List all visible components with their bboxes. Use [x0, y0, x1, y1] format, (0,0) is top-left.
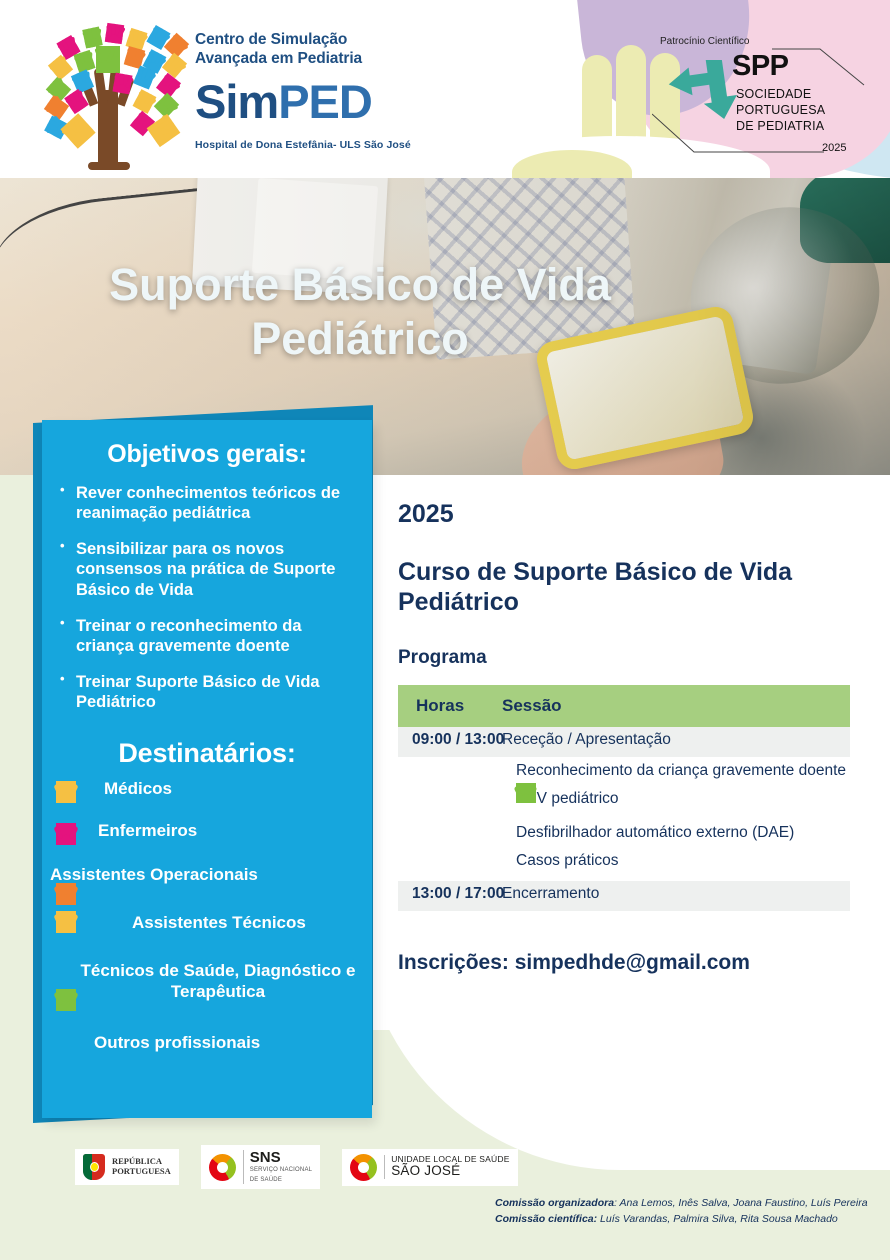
row-session: Reconhecimento da criança gravemente doe…: [516, 762, 846, 779]
spp-abbreviation: SPP: [732, 52, 789, 81]
hand-icon-green: [56, 989, 76, 1011]
audience-row: Médicos: [42, 777, 372, 817]
row-session: Desfibrilhador automático externo (DAE): [516, 824, 794, 841]
hand-icon-pink: [56, 823, 76, 845]
table-row: 13:00 / 17:00 Encerramento: [398, 881, 850, 911]
objectives-list: Rever conhecimentos teóricos de reanimaç…: [42, 483, 372, 712]
row-hours: 09:00 / 13:00: [398, 731, 502, 749]
row-session: Casos práticos: [516, 852, 619, 869]
audience-row: Enfermeiros: [42, 821, 372, 861]
program-label: Programa: [398, 647, 868, 669]
sns-label: SNS SERVIÇO NACIONAL DE SAÚDE: [243, 1150, 312, 1184]
uls-label: UNIDADE LOCAL DE SAÚDE SÃO JOSÉ: [384, 1155, 509, 1179]
spp-fullname: SOCIEDADE PORTUGUESA DE PEDIATRIA: [736, 86, 825, 134]
course-details: 2025 Curso de Suporte Básico de Vida Ped…: [398, 500, 868, 975]
spp-arrow-icon: [662, 60, 740, 122]
hand-icon-green: [516, 783, 536, 803]
simped-wordmark: SimPED: [195, 78, 555, 125]
registration-line[interactable]: Inscrições: simpedhde@gmail.com: [398, 951, 868, 975]
spp-fullname-line3: DE PEDIATRIA: [736, 118, 825, 134]
logo-republica-portuguesa: REPÚBLICA PORTUGUESA: [75, 1149, 179, 1185]
hand-tree-icon: [40, 22, 190, 172]
objective-item: Treinar Suporte Básico de Vida Pediátric…: [58, 672, 358, 712]
sns-acronym: SNS: [250, 1150, 312, 1165]
simped-wordmark-sim: Sim: [195, 75, 278, 128]
hand-icon-orange: [56, 883, 76, 905]
row-session: Receção / Apresentação: [502, 731, 850, 749]
republica-line2: PORTUGUESA: [112, 1167, 171, 1177]
hand-icon-yellow: [56, 781, 76, 803]
poster-root: Centro de Simulação Avançada em Pediatri…: [0, 0, 890, 1260]
program-table: Horas Sessão 09:00 / 13:00 Receção / Apr…: [398, 685, 850, 911]
audience-row: Técnicos de Saúde, Diagnóstico e Terapêu…: [42, 953, 372, 1015]
logo-uls-sao-jose: UNIDADE LOCAL DE SAÚDE SÃO JOSÉ: [342, 1149, 517, 1186]
simped-wordmark-ped: PED: [278, 75, 372, 128]
simped-tagline-line1: Centro de Simulação: [195, 30, 555, 49]
row-hours: 13:00 / 17:00: [398, 885, 502, 903]
portugal-shield-icon: [83, 1154, 105, 1180]
spp-fullname-line1: SOCIEDADE: [736, 86, 825, 102]
spp-year: 2025: [822, 142, 846, 154]
spp-fullname-line2: PORTUGUESA: [736, 102, 825, 118]
hand-icon-yellow: [56, 911, 76, 933]
sns-ring-icon: [209, 1154, 236, 1181]
column-header-hours: Horas: [398, 696, 502, 716]
committee-organizing: Comissão organizadora: Ana Lemos, Inês S…: [495, 1196, 890, 1212]
row-session: Encerramento: [502, 885, 850, 903]
table-row: 09:00 / 13:00 Receção / Apresentação: [398, 727, 850, 757]
audience-label: Outros profissionais: [42, 1019, 372, 1054]
program-table-header: Horas Sessão: [398, 685, 850, 727]
table-row: Desfibrilhador automático externo (DAE): [398, 813, 850, 847]
table-row: SBV pediátrico: [398, 785, 850, 813]
table-row: Reconhecimento da criança gravemente doe…: [398, 757, 850, 785]
simped-logo: Centro de Simulação Avançada em Pediatri…: [40, 22, 560, 172]
committee-scientific-names: Luís Varandas, Palmira Silva, Rita Sousa…: [597, 1213, 838, 1225]
blue-info-panel: Objetivos gerais: Rever conhecimentos te…: [42, 420, 372, 1118]
audience-label: Médicos: [42, 777, 372, 800]
course-title: Curso de Suporte Básico de Vida Pediátri…: [398, 557, 868, 617]
committee-organizing-names: : Ana Lemos, Inês Salva, Joana Faustino,…: [614, 1197, 868, 1209]
audience-row: Outros profissionais: [42, 1019, 372, 1059]
table-row: Casos práticos: [398, 847, 850, 881]
audience-label: Enfermeiros: [42, 821, 372, 842]
committee-scientific: Comissão científica: Luís Varandas, Palm…: [495, 1212, 890, 1228]
objectives-heading: Objetivos gerais:: [42, 440, 372, 469]
uls-line-big: SÃO JOSÉ: [391, 1164, 509, 1179]
audience-row: Assistentes Técnicos: [42, 909, 372, 949]
simped-hospital-line: Hospital de Dona Estefânia- ULS São José: [195, 139, 555, 151]
sns-sub1: SERVIÇO NACIONAL: [250, 1167, 312, 1175]
committee-organizing-label: Comissão organizadora: [495, 1197, 614, 1209]
objective-item: Rever conhecimentos teóricos de reanimaç…: [58, 483, 358, 523]
simped-tagline-line2: Avançada em Pediatria: [195, 49, 555, 68]
hero-title-line1: Suporte Básico de Vida: [0, 258, 720, 312]
audience-label: Assistentes Operacionais: [42, 865, 372, 886]
spp-logo-block: Patrocínio Científico SPP SOCIEDADE PORT…: [632, 34, 872, 169]
logo-sns: SNS SERVIÇO NACIONAL DE SAÚDE: [201, 1145, 320, 1189]
republica-label: REPÚBLICA PORTUGUESA: [112, 1157, 171, 1177]
objective-item: Sensibilizar para os novos consensos na …: [58, 539, 358, 599]
spp-sponsor-label: Patrocínio Científico: [660, 36, 750, 47]
sns-sub2: DE SAÚDE: [250, 1177, 312, 1185]
column-header-session: Sessão: [502, 696, 850, 716]
footer-logo-strip: REPÚBLICA PORTUGUESA SNS SERVIÇO NACIONA…: [75, 1145, 518, 1189]
audience-heading: Destinatários:: [42, 738, 372, 769]
audience-row: Assistentes Operacionais: [42, 865, 372, 905]
audience-label: Assistentes Técnicos: [42, 909, 372, 934]
objective-item: Treinar o reconhecimento da criança grav…: [58, 616, 358, 656]
committee-scientific-label: Comissão científica:: [495, 1213, 597, 1225]
hero-title: Suporte Básico de Vida Pediátrico: [0, 258, 720, 366]
audience-label: Técnicos de Saúde, Diagnóstico e Terapêu…: [42, 953, 372, 1002]
course-year: 2025: [398, 500, 868, 529]
committee-credits: Comissão organizadora: Ana Lemos, Inês S…: [495, 1196, 890, 1228]
uls-ring-icon: [350, 1154, 377, 1181]
hero-title-line2: Pediátrico: [0, 312, 720, 366]
